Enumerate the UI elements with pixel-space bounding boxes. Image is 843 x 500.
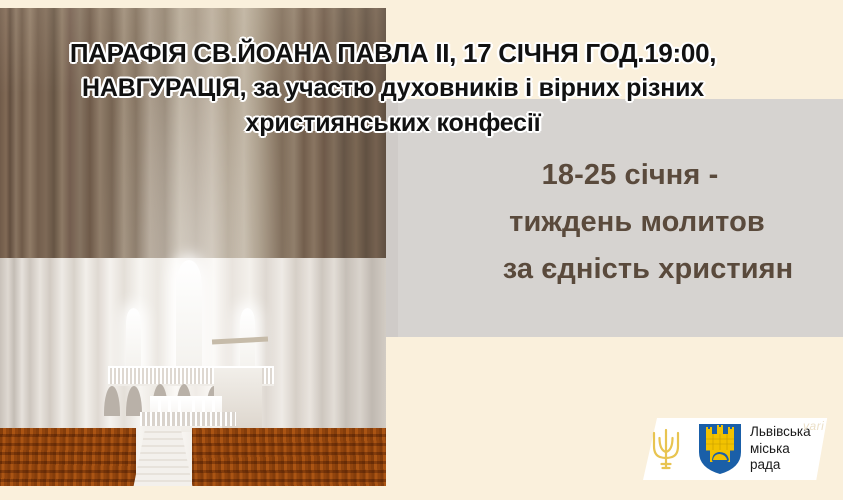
headline-line-2: НАВГУРАЦІЯ, за участю духовників і вірни…: [0, 71, 796, 106]
watermark-text: vari: [803, 419, 824, 433]
ukraine-trident-icon: [648, 424, 684, 472]
org-name: Львівська міська рада: [750, 424, 840, 474]
poster-canvas: ПАРАФІЯ СВ.ЙОАНА ПАВЛА II, 17 СІЧНЯ ГОД.…: [0, 0, 843, 500]
headline-line-3: християнських конфесії: [0, 106, 796, 141]
prayer-week-text: 18-25 січня - тиждень молитов за єдність…: [430, 152, 830, 293]
headline: ПАРАФІЯ СВ.ЙОАНА ПАВЛА II, 17 СІЧНЯ ГОД.…: [0, 36, 796, 141]
prayer-week-line-2: тиждень молитов: [430, 199, 830, 246]
prayer-week-line-3: за єдність християн: [430, 246, 830, 293]
headline-line-1: ПАРАФІЯ СВ.ЙОАНА ПАВЛА II, 17 СІЧНЯ ГОД.…: [0, 36, 796, 71]
prayer-week-line-1: 18-25 січня -: [430, 152, 830, 199]
org-name-line-3: рада: [750, 457, 840, 474]
org-name-line-2: міська: [750, 441, 840, 458]
lviv-coat-of-arms-icon: [697, 422, 743, 476]
org-name-line-1: Львівська: [750, 424, 840, 441]
